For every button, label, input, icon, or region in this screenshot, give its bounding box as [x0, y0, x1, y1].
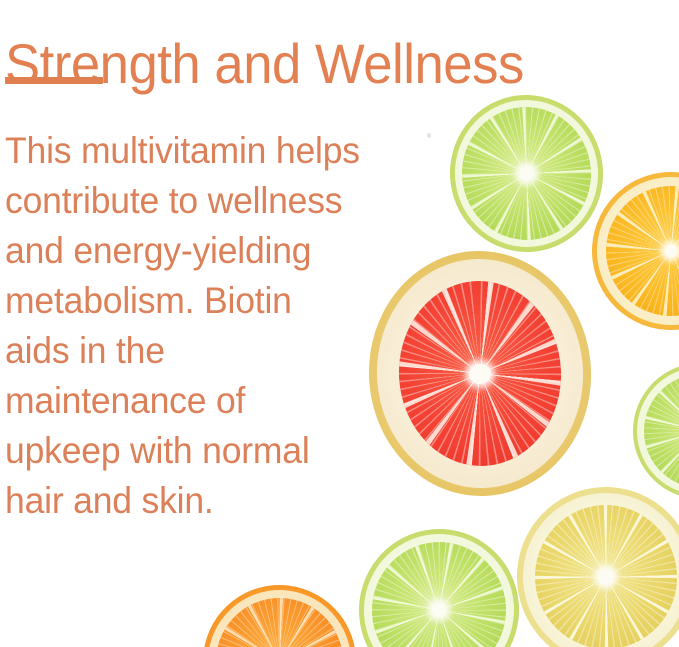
body-line: contribute to wellness: [5, 176, 408, 226]
promo-banner: Strength and Wellness This multivitamin …: [0, 0, 679, 647]
body-line: hair and skin.: [5, 476, 408, 526]
body-copy: This multivitamin helps contribute to we…: [5, 126, 408, 526]
text-block: Strength and Wellness This multivitamin …: [0, 0, 430, 540]
page-title: Strength and Wellness: [5, 31, 524, 97]
body-line: maintenance of: [5, 376, 408, 426]
orange-slice-bottom-left: [198, 580, 361, 647]
lime-slice-right-edge: [622, 352, 679, 510]
body-line: upkeep with normal: [5, 426, 408, 476]
title-divider: [5, 77, 103, 84]
lemon-slice-bottom: [505, 475, 679, 647]
body-line: aids in the: [5, 326, 408, 376]
body-line: This multivitamin helps: [5, 126, 408, 176]
lime-slice-top: [442, 87, 611, 259]
body-line: and energy-yielding: [5, 226, 408, 276]
body-line: metabolism. Biotin: [5, 276, 408, 326]
